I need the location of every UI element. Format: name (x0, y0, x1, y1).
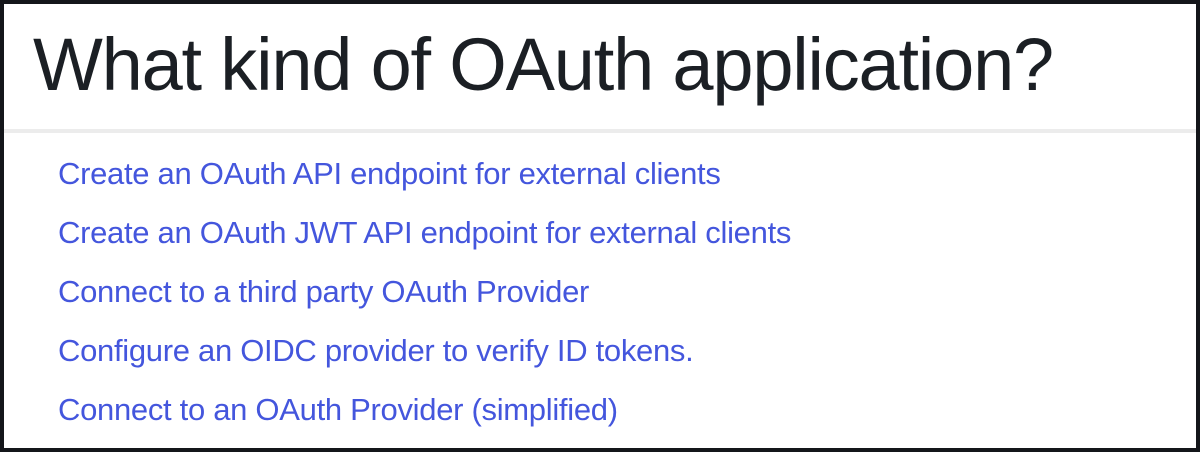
oauth-application-chooser-screen: What kind of OAuth application? Create a… (0, 0, 1200, 452)
list-item: Connect to a third party OAuth Provider (4, 262, 1196, 321)
option-link-third-party-oauth-provider[interactable]: Connect to a third party OAuth Provider (58, 276, 589, 307)
list-item: Connect to an OAuth Provider (simplified… (4, 380, 1196, 439)
list-item: Configure an OIDC provider to verify ID … (4, 321, 1196, 380)
header-divider (4, 129, 1196, 133)
option-link-oidc-provider-id-tokens[interactable]: Configure an OIDC provider to verify ID … (58, 335, 693, 366)
list-item: Create an OAuth JWT API endpoint for ext… (4, 203, 1196, 262)
list-item: Create an OAuth API endpoint for externa… (4, 144, 1196, 203)
option-link-oauth-api-endpoint[interactable]: Create an OAuth API endpoint for externa… (58, 158, 721, 189)
oauth-application-type-list: Create an OAuth API endpoint for externa… (4, 144, 1196, 439)
option-link-oauth-provider-simplified[interactable]: Connect to an OAuth Provider (simplified… (58, 394, 618, 425)
option-link-oauth-jwt-api-endpoint[interactable]: Create an OAuth JWT API endpoint for ext… (58, 217, 791, 248)
page-header: What kind of OAuth application? (4, 4, 1196, 133)
page-title: What kind of OAuth application? (33, 0, 1053, 129)
